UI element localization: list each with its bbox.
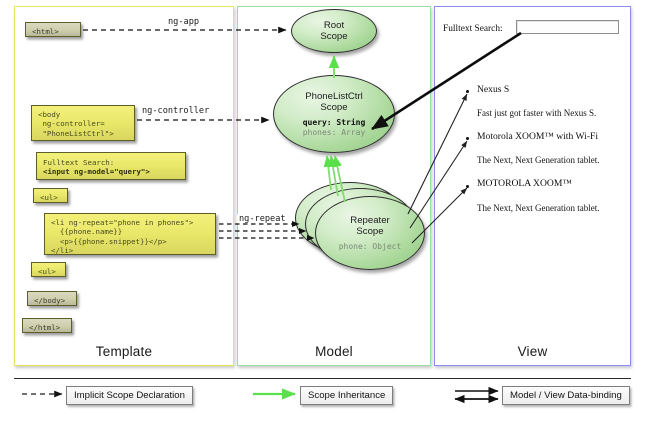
view-phone-snippet-3: The Next, Next Generation tablet. (477, 203, 599, 213)
diagram-canvas: Template Model View <html> <body ng-cont… (0, 0, 645, 425)
view-phone-snippet-2: The Next, Next Generation tablet. (477, 155, 599, 165)
panel-template-label: Template (15, 344, 233, 359)
code-search-input: <input ng-model="query"> (43, 167, 150, 176)
code-box-body-open: <body ng-controller= "PhoneListCtrl"> (31, 105, 135, 141)
edge-label-ng-repeat: ng-repeat (237, 214, 288, 224)
view-phone-name-1: Nexus S (477, 84, 509, 95)
legend-item-data-binding: Model / View Data-binding (502, 386, 630, 405)
code-box-fulltext-search: Fulltext Search: <input ng-model="query"… (36, 152, 186, 180)
code-box-html-open: <html> (25, 22, 81, 37)
legend-divider (14, 378, 631, 379)
legend-item-scope-inheritance: Scope Inheritance (300, 386, 393, 405)
legend-item-implicit-scope: Implicit Scope Declaration (66, 386, 193, 405)
panel-view-label: View (435, 344, 630, 359)
scope-repeater-title: Repeater Scope (350, 215, 389, 237)
edge-label-ng-app: ng-app (166, 17, 201, 27)
scope-prop-phone: phone: Object (339, 242, 402, 252)
edge-label-ng-controller: ng-controller (140, 106, 211, 116)
panel-template: Template (14, 6, 234, 366)
code-box-ul-close: <ul> (31, 262, 66, 277)
code-box-html-close: </html> (22, 318, 72, 333)
view-search-label: Fulltext Search: (443, 24, 503, 34)
code-box-li-repeat: <li ng-repeat="phone in phones"> {{phone… (44, 213, 216, 255)
code-box-ul-open: <ul> (33, 188, 68, 203)
code-search-label: Fulltext Search: (43, 158, 114, 167)
scope-phonelistctrl-props: query: String phones: Array (303, 118, 366, 137)
scope-prop-phones: phones: Array (303, 128, 366, 138)
panel-model-label: Model (238, 344, 430, 359)
scope-repeater: Repeater Scope phone: Object (315, 196, 425, 270)
view-search-input[interactable] (516, 20, 619, 34)
view-phone-name-2: Motorola XOOM™ with Wi-Fi (477, 131, 598, 142)
view-phone-snippet-1: Fast just got faster with Nexus S. (477, 108, 596, 118)
scope-phonelistctrl-title: PhoneListCtrl Scope (305, 91, 363, 113)
view-phone-name-3: MOTOROLA XOOM™ (477, 178, 572, 189)
scope-prop-query: query: String (303, 118, 366, 128)
scope-root: Root Scope (291, 9, 377, 53)
scope-phonelistctrl: PhoneListCtrl Scope query: String phones… (273, 75, 395, 153)
scope-repeater-props: phone: Object (339, 242, 402, 252)
code-box-body-close: </body> (27, 291, 77, 306)
scope-root-title: Root Scope (320, 20, 347, 42)
